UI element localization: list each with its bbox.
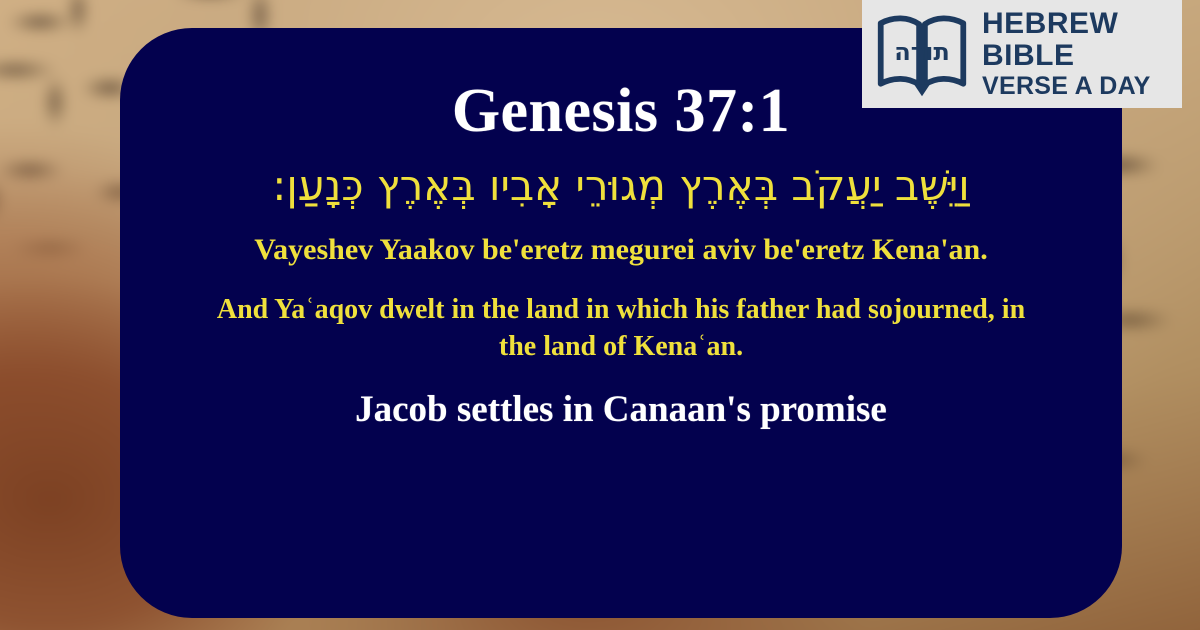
verse-transliteration-text: Vayeshev Yaakov be'eretz megurei aviv be… xyxy=(241,230,1001,269)
verse-card: Genesis 37:1 וַיֵּשֶׁב יַעֲקֹב בְּאֶרֶץ … xyxy=(120,28,1122,618)
brand-logo-badge[interactable]: תורה HEBREW BIBLE VERSE A DAY xyxy=(862,0,1182,108)
open-book-torah-icon: תורה xyxy=(874,6,970,102)
brand-line-hebrew: HEBREW xyxy=(982,9,1151,39)
verse-reference-title: Genesis 37:1 xyxy=(452,78,790,145)
verse-translation-text: And Yaʿaqov dwelt in the land in which h… xyxy=(211,291,1031,366)
svg-text:תורה: תורה xyxy=(894,38,950,66)
brand-line-bible: BIBLE xyxy=(982,41,1151,71)
brand-line-verse-a-day: VERSE A DAY xyxy=(982,74,1151,99)
verse-hebrew-text: וַיֵּשֶׁב יַעֲקֹב בְּאֶרֶץ מְגוּרֵי אָבִ… xyxy=(171,159,1071,214)
verse-caption-text: Jacob settles in Canaan's promise xyxy=(171,388,1071,432)
brand-wordmark: HEBREW BIBLE VERSE A DAY xyxy=(982,9,1151,99)
